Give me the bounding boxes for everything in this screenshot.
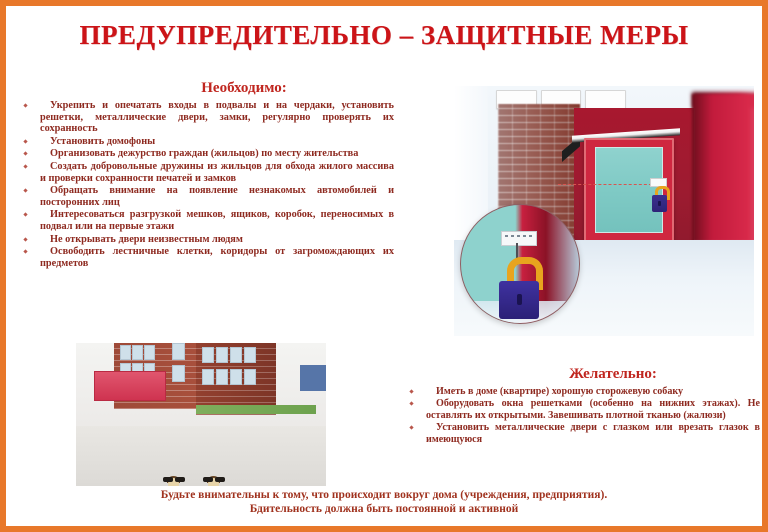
list-item: Освободить лестничные клетки, коридоры о… <box>12 246 394 269</box>
shoe <box>175 477 185 482</box>
right-crimson-wall <box>692 94 754 242</box>
blue-panel <box>300 365 326 391</box>
window-pane <box>202 347 214 363</box>
shoe <box>163 477 173 482</box>
red-kiosk <box>94 371 166 401</box>
grass-strip <box>196 405 316 414</box>
list-item: Установить металлические двери с глазком… <box>398 422 760 445</box>
pavement <box>76 426 326 486</box>
magnified-seal-paper <box>501 231 537 246</box>
necessary-measures-block: Необходимо: Укрепить и опечатать входы в… <box>12 80 398 270</box>
safety-poster: ПРЕДУПРЕДИТЕЛЬНО – ЗАЩИТНЫЕ МЕРЫ Необход… <box>0 0 768 532</box>
window-pane <box>230 347 242 363</box>
sealed-door-photo <box>454 86 754 336</box>
window-pane <box>216 369 228 385</box>
list-item: Укрепить и опечатать входы в подвалы и н… <box>12 100 394 135</box>
patrol-photo <box>76 343 326 486</box>
window-pane <box>216 347 228 363</box>
padlock-body <box>499 281 539 319</box>
window-pane <box>244 347 256 363</box>
window-pane <box>202 369 214 385</box>
list-item: Оборудовать окна решетками (особенно на … <box>398 398 760 421</box>
magnified-padlock-icon <box>499 257 539 319</box>
shoe <box>203 477 213 482</box>
desirable-heading: Желательно: <box>398 366 764 383</box>
list-item: Не открывать двери неизвестным людям <box>12 234 394 246</box>
window-pane <box>585 90 626 109</box>
window-pane <box>120 345 131 360</box>
window-pane <box>172 343 185 360</box>
footer-message: Будьте внимательны к тому, что происходи… <box>12 488 756 516</box>
window-pane <box>172 365 185 382</box>
desirable-list: Иметь в доме (квартире) хорошую сторожев… <box>398 386 764 445</box>
window-pane <box>230 369 242 385</box>
window-pane <box>244 369 256 385</box>
shoe <box>215 477 225 482</box>
padlock-body <box>652 195 667 212</box>
list-item: Организовать дежурство граждан (жильцов)… <box>12 148 394 160</box>
desirable-measures-block: Желательно: Иметь в доме (квартире) хоро… <box>398 366 764 446</box>
seal-tape <box>558 184 662 185</box>
list-item: Создать добровольные дружины из жильцов … <box>12 161 394 184</box>
list-item: Обращать внимание на появление незнакомы… <box>12 185 394 208</box>
window-pane <box>132 345 143 360</box>
window-pane <box>144 345 155 360</box>
magnifier-circle <box>460 204 580 324</box>
page-title: ПРЕДУПРЕДИТЕЛЬНО – ЗАЩИТНЫЕ МЕРЫ <box>6 20 762 51</box>
necessary-heading: Необходимо: <box>12 80 398 97</box>
footer-line-1: Будьте внимательны к тому, что происходи… <box>12 488 756 502</box>
list-item: Иметь в доме (квартире) хорошую сторожев… <box>398 386 760 397</box>
list-item: Установить домофоны <box>12 136 394 148</box>
necessary-list: Укрепить и опечатать входы в подвалы и н… <box>12 100 398 269</box>
padlock-icon <box>652 186 667 212</box>
list-item: Интересоваться разгрузкой мешков, ящиков… <box>12 209 394 232</box>
footer-line-2: Бдительность должна быть постоянной и ак… <box>12 502 756 516</box>
